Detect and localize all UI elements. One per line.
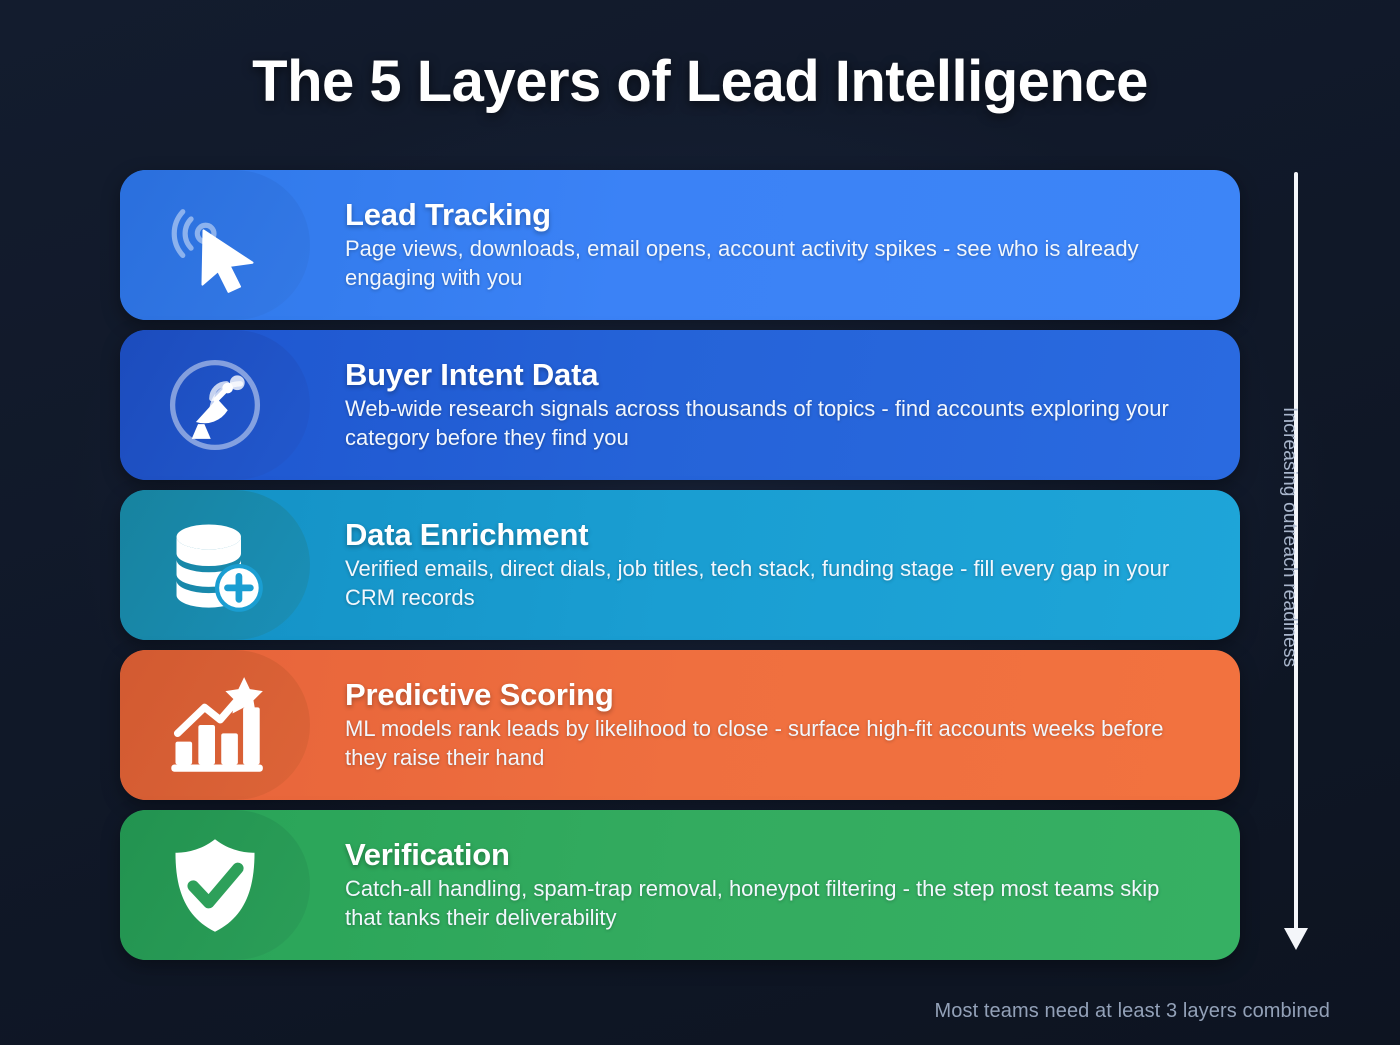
layer-card-body: Buyer Intent Data Web-wide research sign… <box>345 358 1240 453</box>
layer-description: Catch-all handling, spam-trap removal, h… <box>345 875 1182 932</box>
layer-description: Verified emails, direct dials, job title… <box>345 555 1182 612</box>
layer-title: Predictive Scoring <box>345 678 1182 713</box>
layer-icon-panel <box>120 330 310 480</box>
footer-note: Most teams need at least 3 layers combin… <box>934 1000 1330 1023</box>
layer-card-body: Data Enrichment Verified emails, direct … <box>345 518 1240 613</box>
layer-title: Buyer Intent Data <box>345 358 1182 393</box>
layer-card-buyer-intent-data[interactable]: Buyer Intent Data Web-wide research sign… <box>120 330 1240 480</box>
layer-card-body: Lead Tracking Page views, downloads, ema… <box>345 198 1240 293</box>
layer-card-verification[interactable]: Verification Catch-all handling, spam-tr… <box>120 810 1240 960</box>
readiness-axis: Increasing outreach readiness <box>1280 172 1390 962</box>
shield-check-icon <box>163 833 267 937</box>
layer-title: Verification <box>345 838 1182 873</box>
database-plus-icon <box>163 513 267 617</box>
layer-icon-panel <box>120 170 310 320</box>
layer-card-body: Verification Catch-all handling, spam-tr… <box>345 838 1240 933</box>
layer-card-body: Predictive Scoring ML models rank leads … <box>345 678 1240 773</box>
layer-icon-panel <box>120 490 310 640</box>
bar-chart-star-icon <box>163 673 267 777</box>
layer-card-lead-tracking[interactable]: Lead Tracking Page views, downloads, ema… <box>120 170 1240 320</box>
layer-icon-panel <box>120 810 310 960</box>
page-header: The 5 Layers of Lead Intelligence <box>0 52 1400 113</box>
layer-card-data-enrichment[interactable]: Data Enrichment Verified emails, direct … <box>120 490 1240 640</box>
layers-stack: Lead Tracking Page views, downloads, ema… <box>120 170 1240 960</box>
layer-title: Lead Tracking <box>345 198 1182 233</box>
arrow-down-icon <box>1284 928 1308 950</box>
layer-card-predictive-scoring[interactable]: Predictive Scoring ML models rank leads … <box>120 650 1240 800</box>
axis-label: Increasing outreach readiness <box>1278 407 1300 667</box>
layer-description: Page views, downloads, email opens, acco… <box>345 235 1182 292</box>
layer-description: ML models rank leads by likelihood to cl… <box>345 715 1182 772</box>
cursor-click-icon <box>163 193 267 297</box>
layer-icon-panel <box>120 650 310 800</box>
page-title: The 5 Layers of Lead Intelligence <box>0 52 1400 113</box>
layer-title: Data Enrichment <box>345 518 1182 553</box>
satellite-dish-icon <box>162 352 268 458</box>
layer-description: Web-wide research signals across thousan… <box>345 395 1182 452</box>
